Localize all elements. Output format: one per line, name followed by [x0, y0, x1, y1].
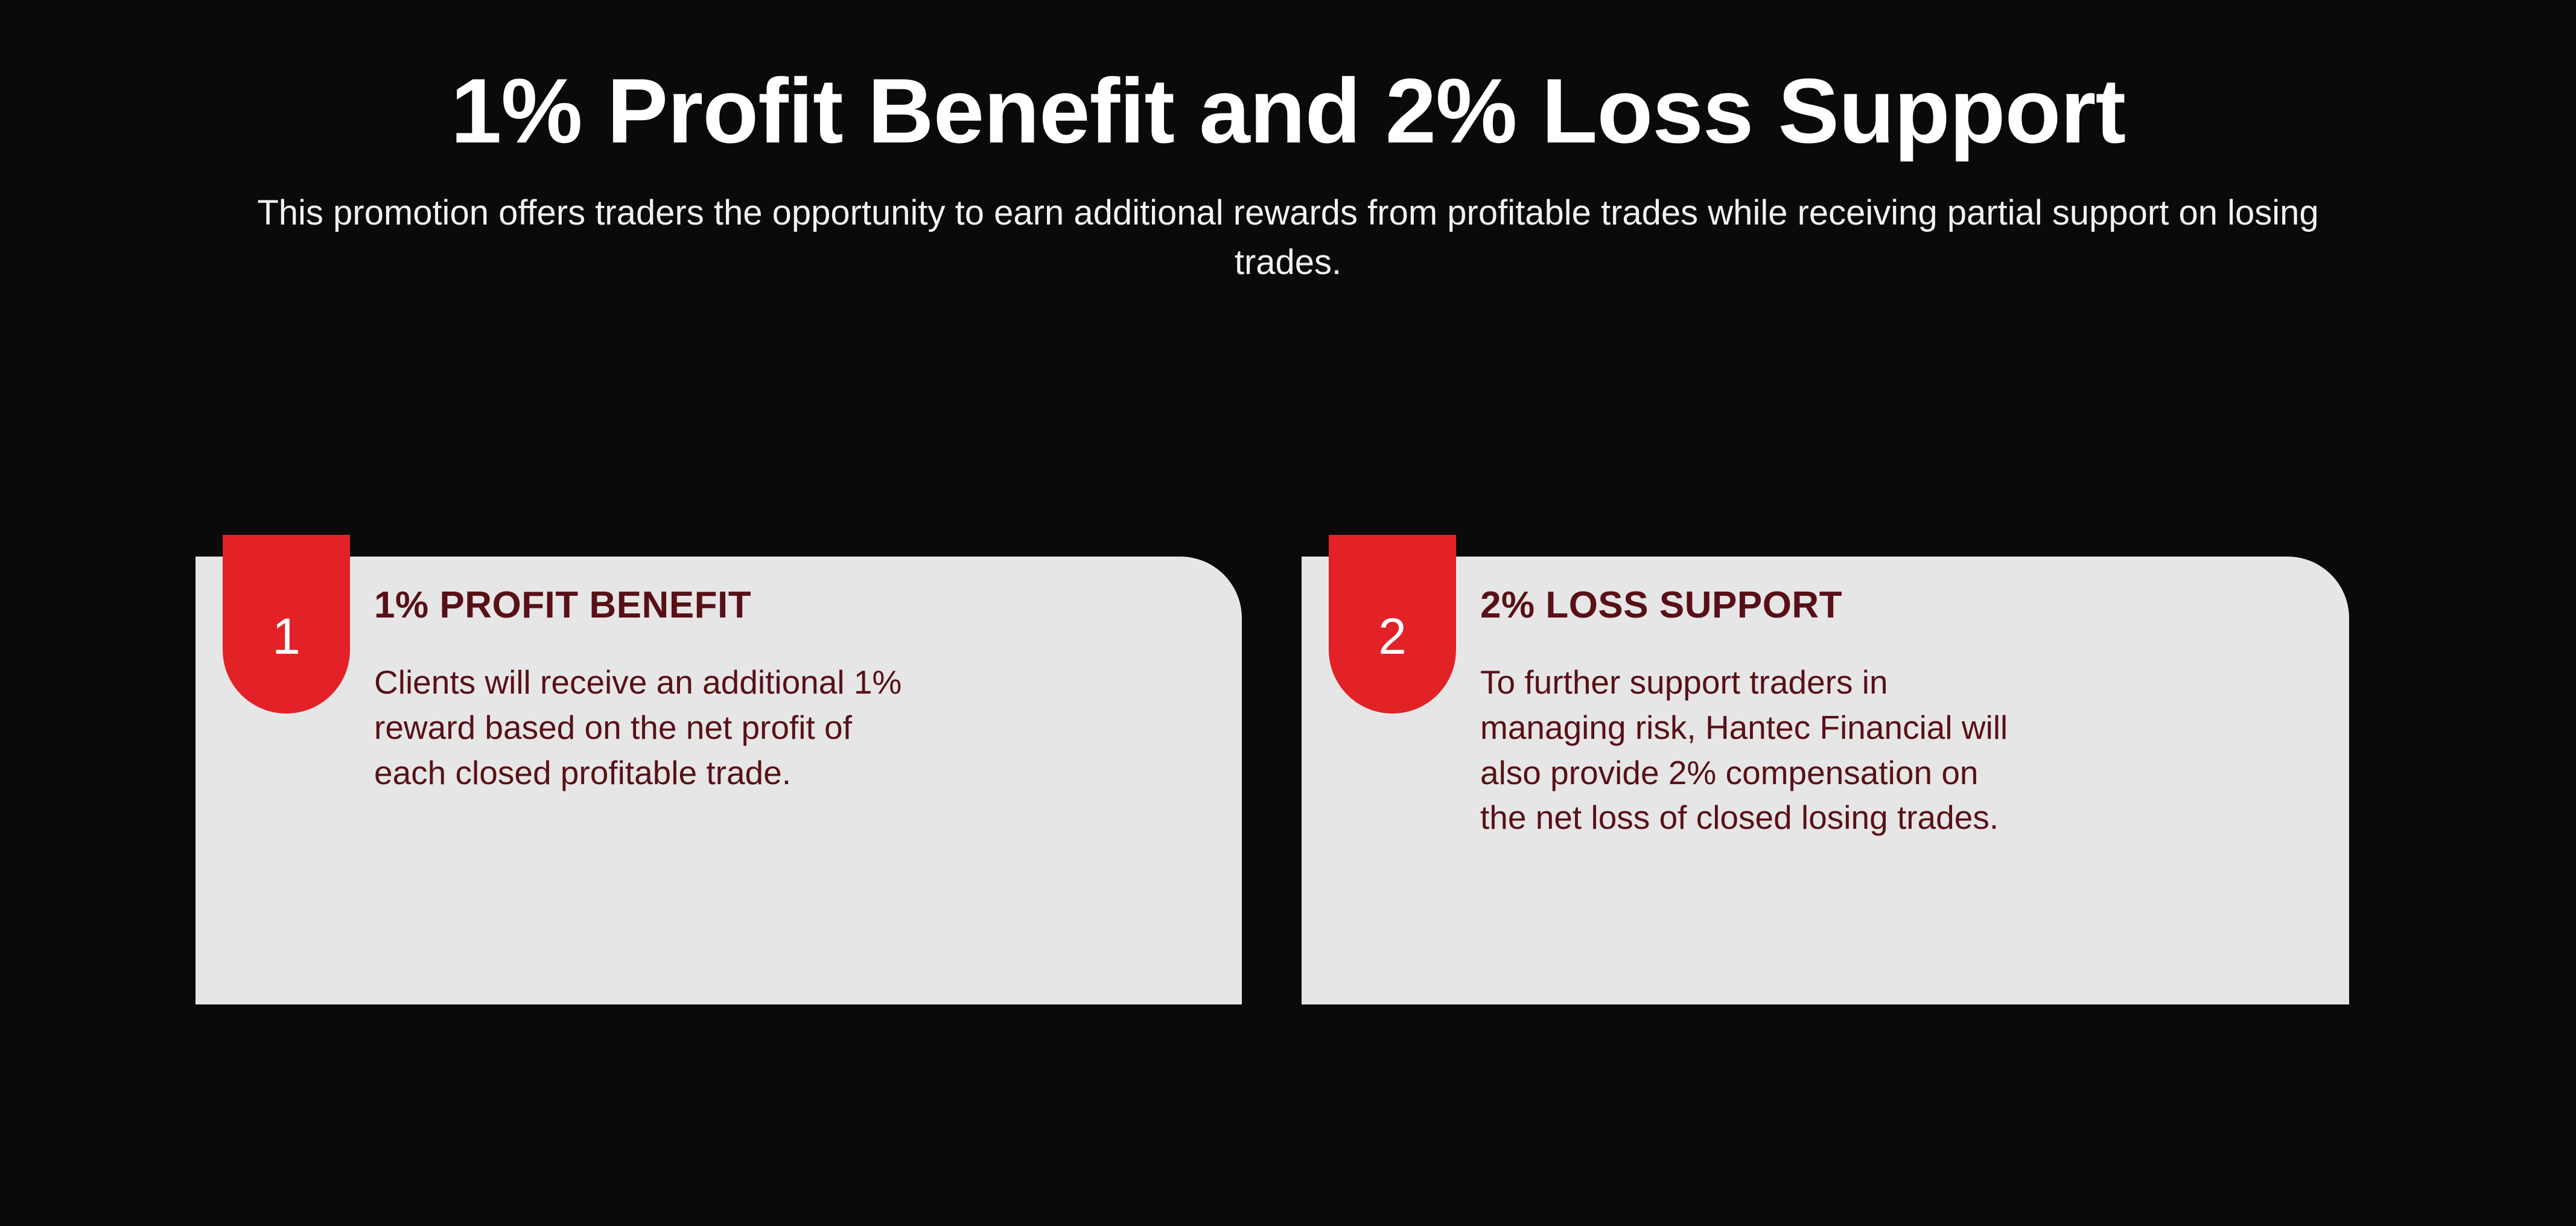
badge-number-1: 1 [223, 535, 350, 714]
card-text-loss: To further support traders in managing r… [1480, 660, 2192, 840]
card-heading-loss: 2% LOSS SUPPORT [1480, 586, 2313, 625]
promotion-slide: 1% Profit Benefit and 2% Loss Support Th… [0, 0, 2576, 1226]
card-body: 2% LOSS SUPPORT To further support trade… [1480, 586, 2313, 840]
badge-number-label: 1 [272, 611, 301, 662]
badge-number-label: 2 [1378, 611, 1407, 662]
benefit-cards-row: 1 1% PROFIT BENEFIT Clients will receive… [196, 557, 2349, 1004]
card-heading-profit: 1% PROFIT BENEFIT [374, 586, 1206, 625]
header-block: 1% Profit Benefit and 2% Loss Support Th… [0, 0, 2576, 288]
card-text-profit: Clients will receive an additional 1% re… [374, 660, 1086, 795]
card-body: 1% PROFIT BENEFIT Clients will receive a… [374, 586, 1206, 795]
benefit-card-profit[interactable]: 1 1% PROFIT BENEFIT Clients will receive… [196, 557, 1242, 1004]
page-subtitle: This promotion offers traders the opport… [214, 157, 2362, 288]
benefit-card-loss[interactable]: 2 2% LOSS SUPPORT To further support tra… [1302, 557, 2349, 1004]
page-title: 1% Profit Benefit and 2% Loss Support [0, 0, 2576, 157]
badge-number-2: 2 [1329, 535, 1456, 714]
